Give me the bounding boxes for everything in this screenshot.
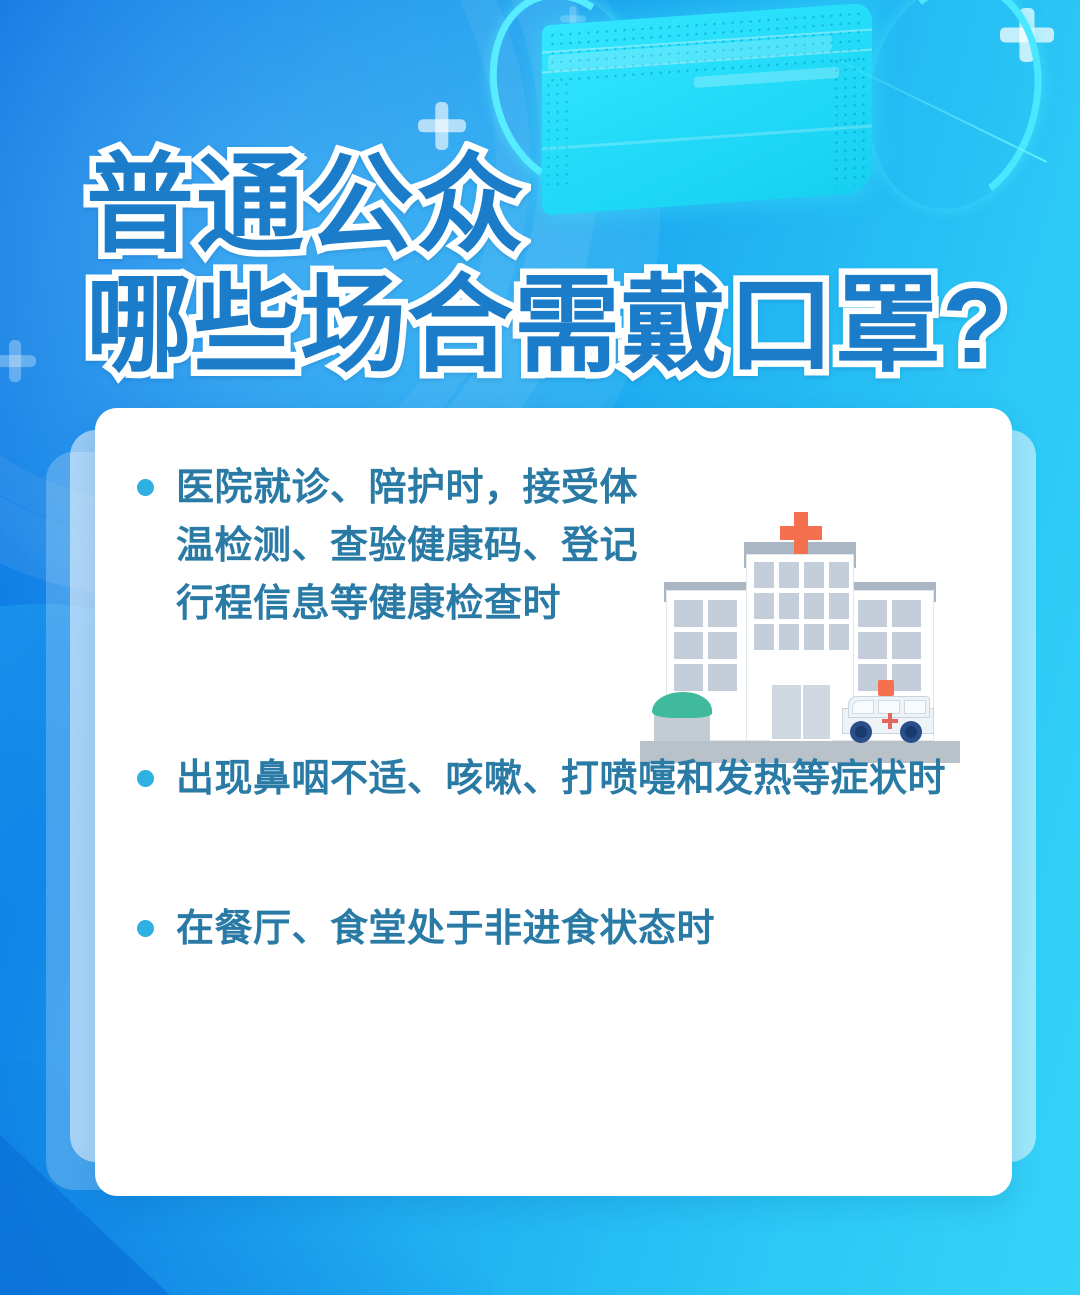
bullet-dot-icon [137,770,154,787]
mask-pleat [542,124,872,150]
mask-texture-dots [548,9,865,83]
poster-canvas: 普通公众 哪些场合需戴口罩? [0,0,1080,1295]
guidance-list: 医院就诊、陪护时，接受体温检测、查验健康码、登记行程信息等健康检查时 出现鼻咽不… [137,460,977,959]
plus-icon [0,340,36,382]
list-item: 出现鼻咽不适、咳嗽、打喷嚏和发热等症状时 [137,751,977,809]
page-title: 普通公众 哪些场合需戴口罩? [86,148,1026,383]
list-item-text: 出现鼻咽不适、咳嗽、打喷嚏和发热等症状时 [176,751,966,809]
bullet-dot-icon [137,479,154,496]
bullet-dot-icon [137,920,154,937]
plus-icon [418,102,466,150]
mask-pleat [542,48,872,73]
mask-pleat [542,28,872,53]
mask-highlight-band [694,67,839,88]
list-item: 医院就诊、陪护时，接受体温检测、查验健康码、登记行程信息等健康检查时 [137,460,977,633]
list-item-text: 在餐厅、食堂处于非进食状态时 [176,901,966,959]
title-line-1: 普通公众 [86,148,1026,262]
mask-nose-band [548,35,832,71]
title-line-2: 哪些场合需戴口罩? [86,270,1026,382]
list-item: 在餐厅、食堂处于非进食状态时 [137,901,977,959]
mask-glow-line [813,47,1048,163]
plus-icon [560,6,586,32]
plus-icon [1000,8,1054,62]
content-card: 医院就诊、陪护时，接受体温检测、查验健康码、登记行程信息等健康检查时 出现鼻咽不… [95,408,1012,1196]
list-item-text: 医院就诊、陪护时，接受体温检测、查验健康码、登记行程信息等健康检查时 [176,460,646,633]
